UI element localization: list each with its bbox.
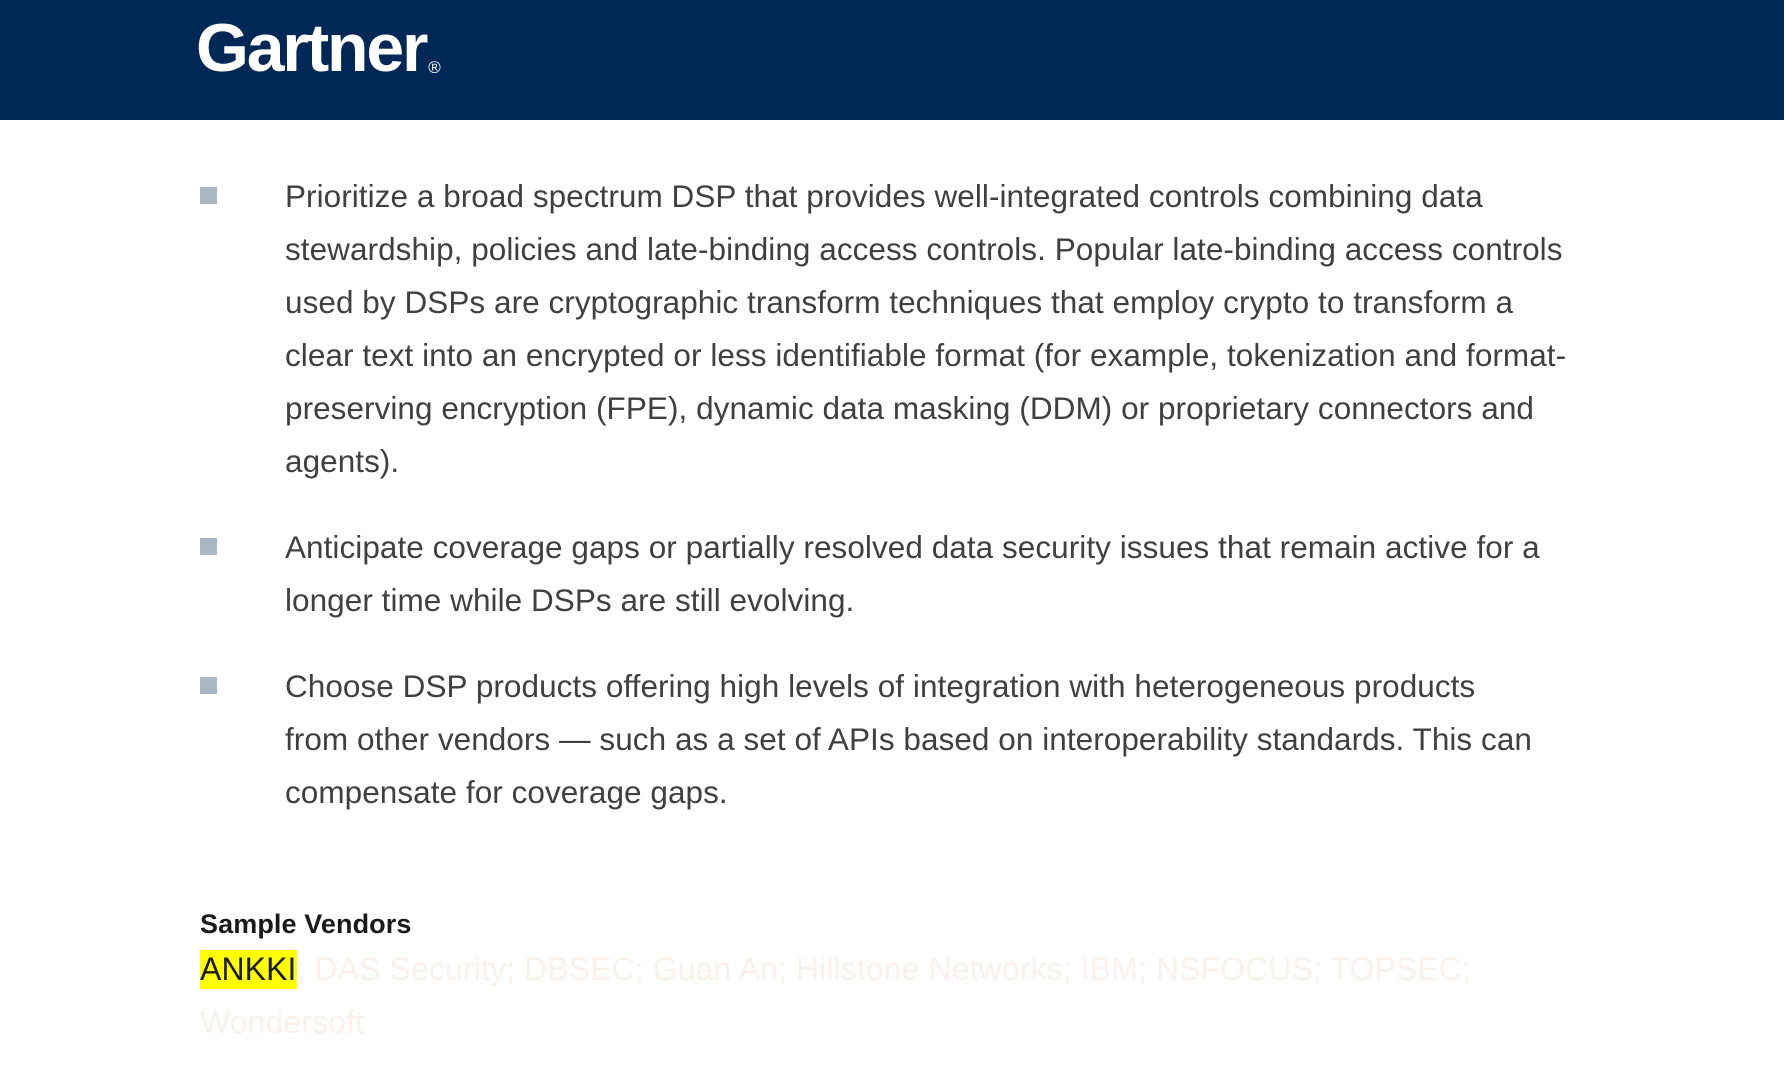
list-item-text: Anticipate coverage gaps or partially re… — [285, 521, 1610, 627]
square-bullet-icon — [200, 538, 217, 555]
sample-vendors-remaining-text: ; DAS Security; DBSEC; Guan An; Hillston… — [200, 951, 1471, 1040]
highlighted-vendor-ankki: ANKKI — [200, 950, 297, 989]
list-item-text: Choose DSP products offering high levels… — [285, 660, 1535, 819]
square-bullet-icon — [200, 677, 217, 694]
sample-vendors-heading: Sample Vendors — [200, 905, 1650, 943]
square-bullet-icon — [200, 187, 217, 204]
gartner-logo: Gartner ® — [196, 14, 441, 82]
list-item: Choose DSP products offering high levels… — [200, 660, 1620, 819]
header-band: Gartner ® — [0, 0, 1784, 120]
list-item-text: Prioritize a broad spectrum DSP that pro… — [285, 170, 1590, 488]
list-item: Anticipate coverage gaps or partially re… — [200, 521, 1620, 627]
recommendations-bullet-list: Prioritize a broad spectrum DSP that pro… — [200, 170, 1620, 819]
gartner-logo-wordmark: Gartner — [196, 14, 426, 82]
list-item: Prioritize a broad spectrum DSP that pro… — [200, 170, 1620, 488]
registered-trademark-icon: ® — [428, 59, 441, 76]
sample-vendors-section: Sample Vendors ANKKI; DAS Security; DBSE… — [200, 905, 1650, 1049]
slide-content: Prioritize a broad spectrum DSP that pro… — [0, 120, 1784, 1090]
sample-vendors-list: ANKKI; DAS Security; DBSEC; Guan An; Hil… — [200, 943, 1520, 1049]
